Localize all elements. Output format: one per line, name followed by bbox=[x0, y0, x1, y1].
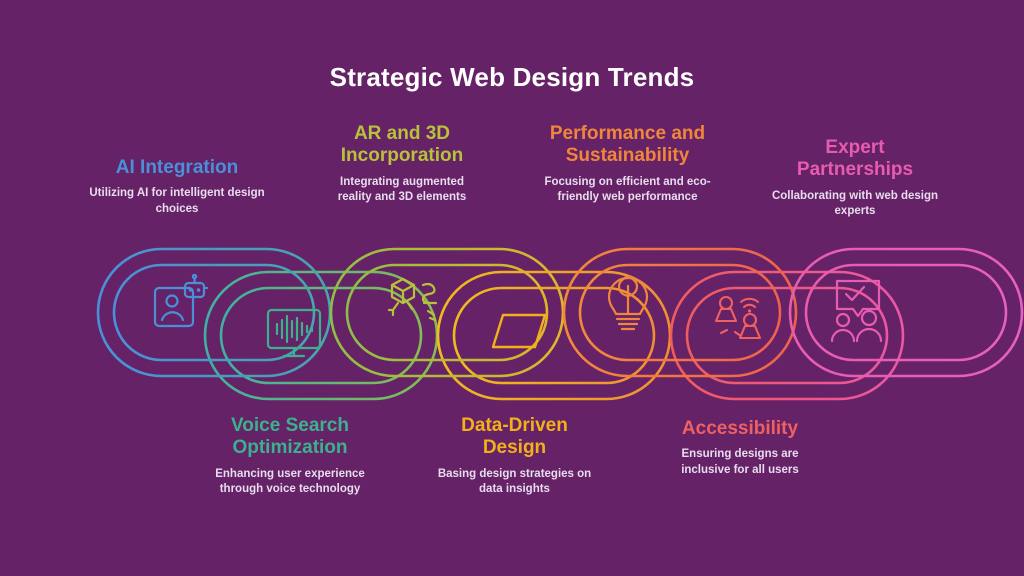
link-label-data-driven: Data-Driven Design Basing design strateg… bbox=[432, 415, 597, 497]
accessibility-people-wifi-icon bbox=[716, 297, 760, 338]
link-label-description: Integrating augmented reality and 3D ele… bbox=[322, 175, 482, 205]
link-label-voice-search: Voice Search Optimization Enhancing user… bbox=[200, 415, 380, 497]
chain-link-ar-3d bbox=[331, 249, 563, 376]
link-label-description: Enhancing user experience through voice … bbox=[200, 467, 380, 497]
link-label-accessibility: Accessibility Ensuring designs are inclu… bbox=[660, 418, 820, 478]
ai-person-robot-icon bbox=[155, 275, 207, 326]
data-parallelogram-icon bbox=[493, 315, 545, 347]
link-label-expert-partnerships: Expert Partnerships Collaborating with w… bbox=[770, 137, 940, 219]
link-label-title: AI Integration bbox=[87, 157, 267, 179]
voice-waveform-monitor-icon bbox=[268, 310, 320, 356]
link-label-title: Performance and Sustainability bbox=[540, 123, 715, 168]
chain-link-performance bbox=[564, 249, 796, 376]
link-label-title: Data-Driven Design bbox=[432, 415, 597, 460]
link-label-description: Focusing on efficient and eco-friendly w… bbox=[540, 175, 715, 205]
ar-3d-cube-icon bbox=[389, 279, 436, 320]
chain-link-accessibility bbox=[671, 272, 903, 399]
link-label-performance: Performance and Sustainability Focusing … bbox=[540, 123, 715, 205]
link-label-ai-integration: AI Integration Utilizing AI for intellig… bbox=[87, 157, 267, 217]
link-label-description: Basing design strategies on data insight… bbox=[432, 467, 597, 497]
link-label-title: Expert Partnerships bbox=[770, 137, 940, 182]
link-label-description: Collaborating with web design experts bbox=[770, 189, 940, 219]
link-label-title: Voice Search Optimization bbox=[200, 415, 380, 460]
link-label-ar-3d: AR and 3D Incorporation Integrating augm… bbox=[322, 123, 482, 205]
link-label-description: Utilizing AI for intelligent design choi… bbox=[87, 186, 267, 216]
link-label-title: AR and 3D Incorporation bbox=[322, 123, 482, 168]
infographic-canvas: Strategic Web Design Trends bbox=[0, 0, 1024, 576]
link-label-description: Ensuring designs are inclusive for all u… bbox=[660, 447, 820, 477]
chain-link-expert-partnerships bbox=[790, 249, 1022, 376]
link-label-title: Accessibility bbox=[660, 418, 820, 440]
